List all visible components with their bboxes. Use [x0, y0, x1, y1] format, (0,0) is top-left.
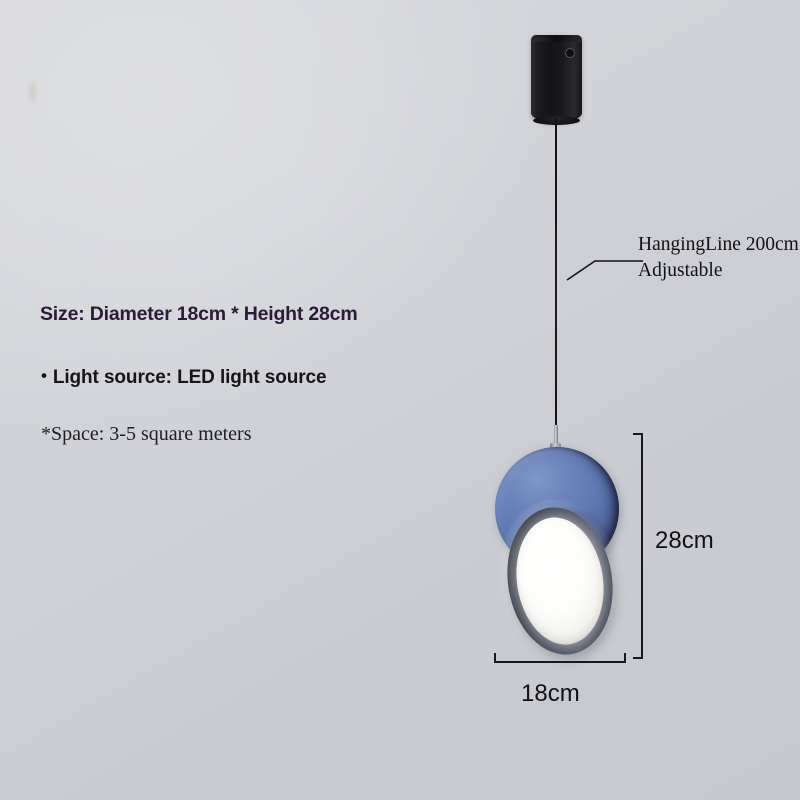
hanging-cord: [555, 118, 557, 438]
width-dimension-label: 18cm: [521, 680, 580, 708]
spec-space-text: *Space: 3-5 square meters: [41, 423, 251, 446]
width-tick-right: [624, 653, 626, 663]
background-speck: [26, 77, 39, 107]
product-spec-illustration: HangingLine 200cm Adjustable 28cm 18cm S…: [0, 0, 800, 800]
callout-line-1: HangingLine 200cm: [638, 232, 799, 258]
callout-leader-line: [565, 228, 645, 282]
height-dimension-bracket: [633, 433, 651, 659]
spec-light-source-text: •Light source: LED light source: [41, 367, 326, 389]
pendant-lamp-fixture: [480, 425, 640, 665]
ceiling-canopy: [531, 35, 582, 122]
height-dimension-line: [641, 433, 643, 659]
width-dimension-line: [494, 661, 626, 663]
spec-light-source-label: Light source: LED light source: [53, 367, 327, 388]
canopy-top-cap: [531, 35, 582, 42]
height-dimension-label: 28cm: [655, 527, 714, 555]
bullet-icon: •: [41, 367, 47, 384]
spec-size-text: Size: Diameter 18cm * Height 28cm: [40, 303, 357, 326]
canopy-screw-icon: [565, 48, 575, 58]
hanging-line-callout: HangingLine 200cm Adjustable: [638, 232, 799, 284]
height-tick-bottom: [633, 657, 643, 659]
callout-line-2: Adjustable: [638, 258, 799, 284]
width-dimension-bracket: [494, 653, 626, 671]
